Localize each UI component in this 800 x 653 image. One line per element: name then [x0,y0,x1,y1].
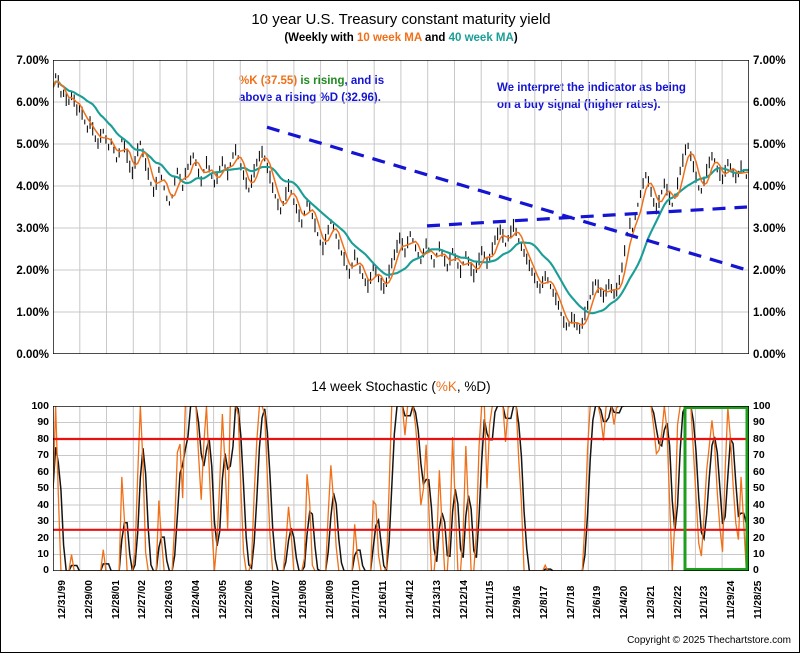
xtick-label: 11/28/25 [753,581,764,619]
ytick-left-4: 4.00% [3,181,49,193]
stochastic-plot[interactable] [53,406,749,571]
stoch-ytick-left-20: 20 [21,533,49,544]
stoch-ytick-right-20: 20 [753,533,781,544]
xtick-label: 12/26/03 [164,580,175,619]
stoch-ytick-right-100: 100 [753,401,781,412]
stoch-ytick-left-60: 60 [21,467,49,478]
stoch-title-pre: 14 week Stochastic ( [311,379,436,394]
xtick-label: 12/22/06 [244,580,255,619]
stoch-ytick-left-100: 100 [21,401,49,412]
stochastic-panel-title: 14 week Stochastic (%K, %D) [1,379,800,394]
xtick-label: 12/11/15 [485,581,496,619]
xtick-label: 12/14/12 [405,580,416,619]
page-title: 10 year U.S. Treasury constant maturity … [1,11,800,28]
stoch-ytick-left-10: 10 [21,549,49,560]
xtick-label: 12/16/11 [378,581,389,619]
stoch-ytick-right-10: 10 [753,549,781,560]
copyright-notice: Copyright © 2025 Thechartstore.com [1,635,791,646]
stoch-ytick-left-50: 50 [21,483,49,494]
xtick-label: 12/4/20 [619,586,630,619]
xtick-label: 12/1/23 [699,586,710,619]
stoch-ytick-left-70: 70 [21,450,49,461]
ytick-right-7: 7.00% [753,55,799,67]
xtick-label: 12/3/21 [646,586,657,619]
ytick-right-3: 3.00% [753,223,799,235]
xtick-label: 12/12/14 [459,580,470,619]
xtick-label: 12/24/04 [191,580,202,619]
stoch-ytick-right-60: 60 [753,467,781,478]
ytick-right-1: 1.00% [753,307,799,319]
xtick-label: 12/2/22 [673,586,684,619]
ytick-right-5: 5.00% [753,139,799,151]
stoch-title-post: ) [486,379,491,394]
ytick-left-2: 2.00% [3,265,49,277]
ytick-left-6: 6.00% [3,97,49,109]
stoch-ytick-right-90: 90 [753,417,781,428]
yield-plot[interactable] [53,60,749,354]
subtitle-and: and [422,32,449,44]
ytick-left-1: 1.00% [3,307,49,319]
main-subtitle: (Weekly with 10 week MA and 40 week MA) [1,32,800,44]
ytick-left-5: 5.00% [3,139,49,151]
stoch-title-d: , %D [457,379,486,394]
stoch-ytick-right-80: 80 [753,434,781,445]
legend-ma40-label: 40 week MA [449,32,514,44]
xtick-label: 12/27/02 [137,580,148,619]
ytick-left-0: 0.00% [3,349,49,361]
xtick-label: 12/17/10 [351,580,362,619]
xtick-label: 12/9/16 [512,586,523,619]
subtitle-pre: (Weekly with [284,32,357,44]
stoch-ytick-left-30: 30 [21,516,49,527]
stoch-ytick-right-30: 30 [753,516,781,527]
xtick-label: 12/19/08 [298,580,309,619]
grid-lines [53,60,749,354]
subtitle-post: ) [514,32,518,44]
xtick-label: 12/23/05 [218,580,229,619]
xtick-label: 12/13/13 [432,580,443,619]
xtick-label: 12/29/00 [84,580,95,619]
ytick-right-4: 4.00% [753,181,799,193]
xtick-label: 11/29/24 [726,581,737,619]
ytick-right-6: 6.00% [753,97,799,109]
stoch-ytick-left-90: 90 [21,417,49,428]
stoch-title-k: %K [436,379,457,394]
xtick-label: 12/7/18 [566,586,577,619]
xtick-label: 12/28/01 [111,580,122,619]
xtick-label: 12/21/07 [271,580,282,619]
stoch-ytick-right-0: 0 [753,565,781,576]
stoch-ytick-right-40: 40 [753,500,781,511]
legend-ma10-label: 10 week MA [357,32,422,44]
stoch-ytick-left-0: 0 [21,565,49,576]
ytick-right-0: 0.00% [753,349,799,361]
xtick-label: 12/8/17 [539,586,550,619]
xtick-label: 12/31/99 [57,580,68,619]
chart-page: 10 year U.S. Treasury constant maturity … [1,1,799,652]
ytick-left-3: 3.00% [3,223,49,235]
ytick-left-7: 7.00% [3,55,49,67]
stoch-ytick-right-50: 50 [753,483,781,494]
stoch-ytick-right-70: 70 [753,450,781,461]
stoch-ytick-left-40: 40 [21,500,49,511]
ytick-right-2: 2.00% [753,265,799,277]
xtick-label: 12/6/19 [592,586,603,619]
stoch-ytick-left-80: 80 [21,434,49,445]
xtick-label: 12/18/09 [325,580,336,619]
